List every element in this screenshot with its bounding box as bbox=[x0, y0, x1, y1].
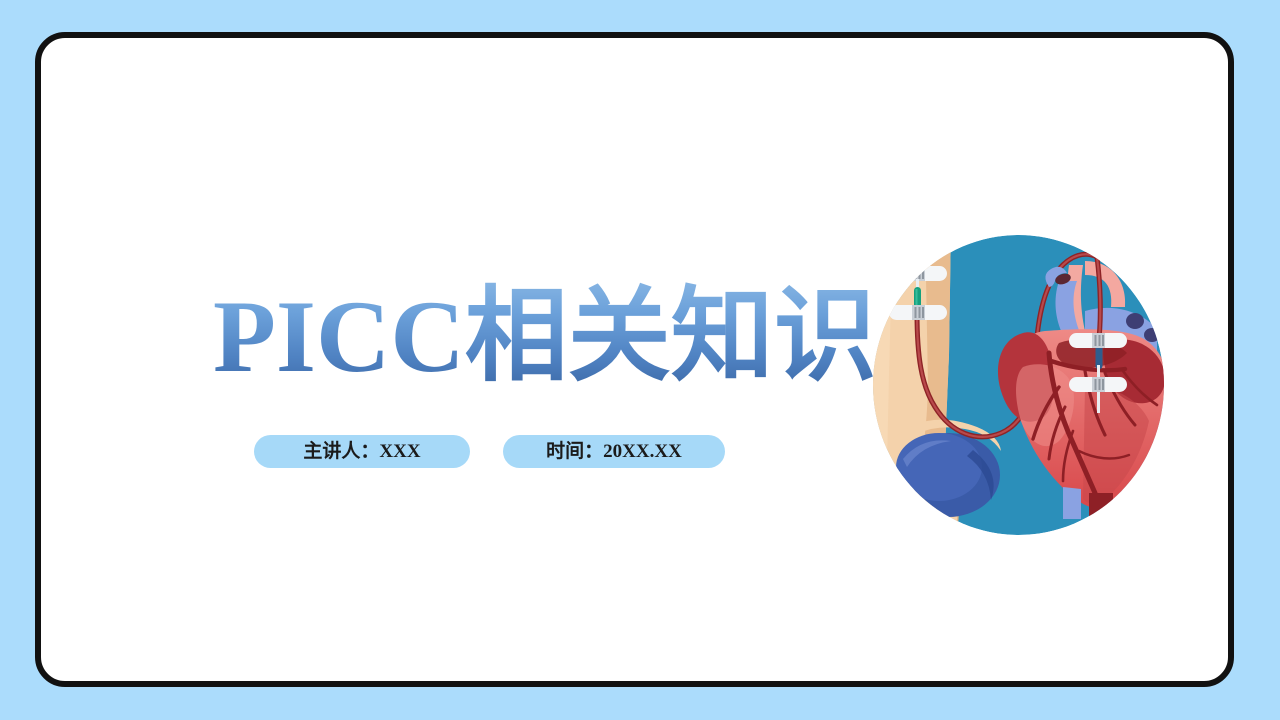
picc-illustration bbox=[873, 235, 1164, 535]
securement-tape-heart-upper bbox=[1069, 333, 1127, 348]
securement-tape-upper bbox=[889, 266, 947, 281]
date-badge: 时间：20XX.XX bbox=[503, 435, 725, 468]
picc-catheter-arm-heart-icon bbox=[873, 235, 1164, 535]
slide-root: PICC相关知识 主讲人：XXX 时间：20XX.XX bbox=[0, 0, 1280, 720]
page-title: PICC相关知识 bbox=[213, 281, 877, 393]
slide-panel: PICC相关知识 主讲人：XXX 时间：20XX.XX bbox=[35, 32, 1234, 687]
securement-tape-heart-lower bbox=[1069, 377, 1127, 392]
speaker-badge: 主讲人：XXX bbox=[254, 435, 470, 468]
securement-tape-lower bbox=[889, 305, 947, 320]
